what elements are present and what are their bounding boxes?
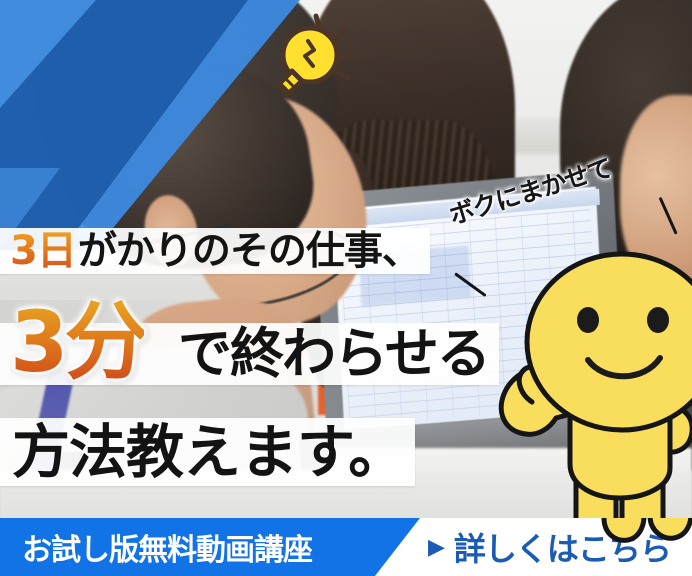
headline-line1-rest: がかりのその仕事、 [78, 232, 420, 271]
cta-bar[interactable]: お試し版無料動画講座 ▶ 詳しくはこちら [0, 518, 692, 576]
headline-line3: 方法教えます。 [12, 423, 405, 481]
headline-band-1: 3日 がかりのその仕事、 [0, 228, 430, 274]
headline-line2-rest: で終わらせる [178, 327, 489, 381]
play-triangle-icon: ▶ [428, 536, 444, 558]
promo-banner: ボクにまかせて 3日 が [0, 0, 692, 576]
headline-band-3: 方法教えます。 [0, 418, 415, 486]
headline-line2-number: 3分 [10, 300, 144, 384]
lightbulb-icon [258, 8, 368, 100]
cta-left-label[interactable]: お試し版無料動画講座 [22, 518, 312, 576]
mascot-feet-overlay [598, 518, 692, 550]
headline-line1-number: 3日 [10, 231, 76, 271]
corner-decoration [0, 0, 300, 250]
